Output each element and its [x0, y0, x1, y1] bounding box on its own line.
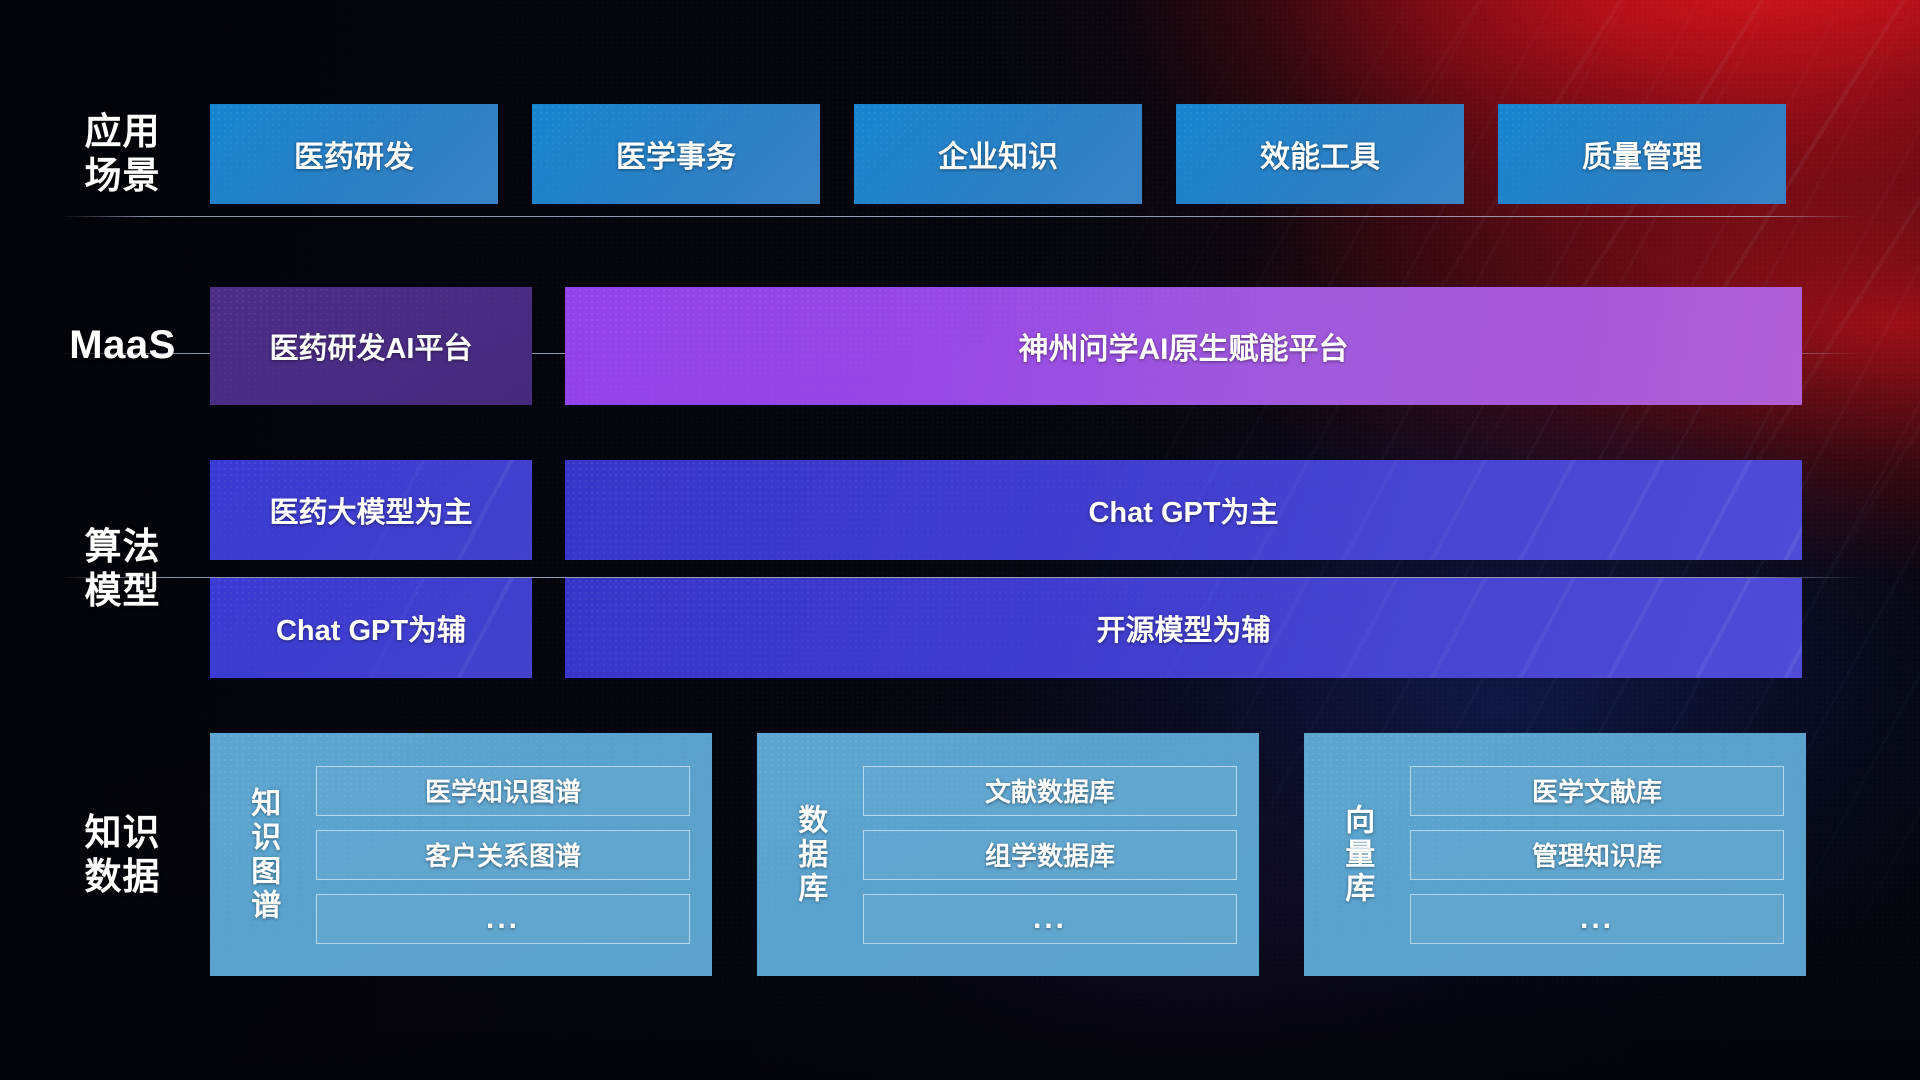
algo-card-opensource-secondary[interactable]: 开源模型为辅 [565, 578, 1802, 678]
knowledge-group-items: 文献数据库 组学数据库 ... [853, 733, 1259, 976]
app-card-label: 效能工具 [1260, 132, 1380, 176]
knowledge-group-items: 医学知识图谱 客户关系图谱 ... [306, 733, 712, 976]
knowledge-item-more[interactable]: ... [316, 894, 690, 944]
knowledge-item[interactable]: 客户关系图谱 [316, 830, 690, 880]
app-card-medical-affairs[interactable]: 医学事务 [532, 104, 820, 204]
algo-card-pharma-llm-primary[interactable]: 医药大模型为主 [210, 460, 532, 560]
knowledge-item-label: ... [1033, 911, 1067, 926]
row-label-knowledge-data: 知识 数据 [60, 811, 185, 898]
app-card-efficiency-tools[interactable]: 效能工具 [1176, 104, 1464, 204]
app-card-label: 医药研发 [294, 132, 414, 176]
maas-card-pharma-ai-platform[interactable]: 医药研发AI平台 [210, 287, 532, 405]
knowledge-item-label: 管理知识库 [1532, 836, 1662, 873]
knowledge-group-title-text: 数据库 [791, 804, 828, 906]
application-scenario-cards: 医药研发 医学事务 企业知识 效能工具 质量管理 [210, 104, 1786, 204]
algorithm-model-line-secondary: Chat GPT为辅 开源模型为辅 [210, 578, 1802, 678]
knowledge-group-title: 数据库 [757, 733, 853, 976]
algo-card-chatgpt-primary[interactable]: Chat GPT为主 [565, 460, 1802, 560]
app-card-label: 医学事务 [616, 132, 736, 176]
row-label-application-scenarios: 应用 场景 [60, 110, 185, 197]
knowledge-item-label: 文献数据库 [985, 772, 1115, 809]
app-card-pharma-rd[interactable]: 医药研发 [210, 104, 498, 204]
maas-card-label: 医药研发AI平台 [269, 325, 472, 367]
knowledge-item[interactable]: 组学数据库 [863, 830, 1237, 880]
knowledge-group-title-text: 知识图谱 [244, 787, 281, 923]
maas-card-shenzhou-wenxue-platform[interactable]: 神州问学AI原生赋能平台 [565, 287, 1802, 405]
knowledge-group-vector-store[interactable]: 向量库 医学文献库 管理知识库 ... [1304, 733, 1806, 976]
algo-card-label: Chat GPT为主 [1088, 489, 1278, 531]
knowledge-item-more[interactable]: ... [863, 894, 1237, 944]
knowledge-item-label: ... [1580, 911, 1614, 926]
knowledge-group-title: 向量库 [1304, 733, 1400, 976]
knowledge-group-knowledge-graph[interactable]: 知识图谱 医学知识图谱 客户关系图谱 ... [210, 733, 712, 976]
row-maas: MaaS 医药研发AI平台 神州问学AI原生赋能平台 [60, 287, 1860, 405]
app-card-quality-management[interactable]: 质量管理 [1498, 104, 1786, 204]
knowledge-item[interactable]: 管理知识库 [1410, 830, 1784, 880]
row-algorithm-models: 算法 模型 医药大模型为主 Chat GPT为主 Chat GPT为辅 [60, 460, 1860, 678]
algo-card-chatgpt-secondary[interactable]: Chat GPT为辅 [210, 578, 532, 678]
row-label-maas: MaaS [60, 322, 185, 369]
knowledge-item-label: 客户关系图谱 [425, 836, 581, 873]
row-application-scenarios: 应用 场景 医药研发 医学事务 企业知识 效能工具 质量管理 [60, 104, 1860, 204]
knowledge-item-label: 医学文献库 [1532, 772, 1662, 809]
knowledge-item-label: 医学知识图谱 [425, 772, 581, 809]
algo-card-label: Chat GPT为辅 [276, 607, 466, 649]
knowledge-group-items: 医学文献库 管理知识库 ... [1400, 733, 1806, 976]
knowledge-group-title: 知识图谱 [210, 733, 306, 976]
knowledge-item[interactable]: 医学文献库 [1410, 766, 1784, 816]
knowledge-group-database[interactable]: 数据库 文献数据库 组学数据库 ... [757, 733, 1259, 976]
algo-card-label: 开源模型为辅 [1096, 607, 1270, 649]
algorithm-model-line-primary: 医药大模型为主 Chat GPT为主 [210, 460, 1802, 560]
app-card-label: 企业知识 [938, 132, 1058, 176]
row-label-algorithm-models: 算法 模型 [60, 525, 185, 612]
algo-card-label: 医药大模型为主 [269, 489, 472, 531]
knowledge-item-more[interactable]: ... [1410, 894, 1784, 944]
knowledge-item-label: 组学数据库 [985, 836, 1115, 873]
app-card-label: 质量管理 [1582, 132, 1702, 176]
row-knowledge-data: 知识 数据 知识图谱 医学知识图谱 客户关系图谱 ... [60, 733, 1860, 976]
architecture-slide: 应用 场景 医药研发 医学事务 企业知识 效能工具 质量管理 [0, 0, 1920, 1080]
maas-card-label: 神州问学AI原生赋能平台 [1019, 324, 1349, 368]
algorithm-model-cards: 医药大模型为主 Chat GPT为主 Chat GPT为辅 开源模型为辅 [210, 460, 1802, 678]
knowledge-item-label: ... [486, 911, 520, 926]
app-card-enterprise-knowledge[interactable]: 企业知识 [854, 104, 1142, 204]
knowledge-group-title-text: 向量库 [1338, 804, 1375, 906]
knowledge-item[interactable]: 文献数据库 [863, 766, 1237, 816]
knowledge-data-groups: 知识图谱 医学知识图谱 客户关系图谱 ... [210, 733, 1806, 976]
knowledge-item[interactable]: 医学知识图谱 [316, 766, 690, 816]
maas-cards: 医药研发AI平台 神州问学AI原生赋能平台 [210, 287, 1802, 405]
